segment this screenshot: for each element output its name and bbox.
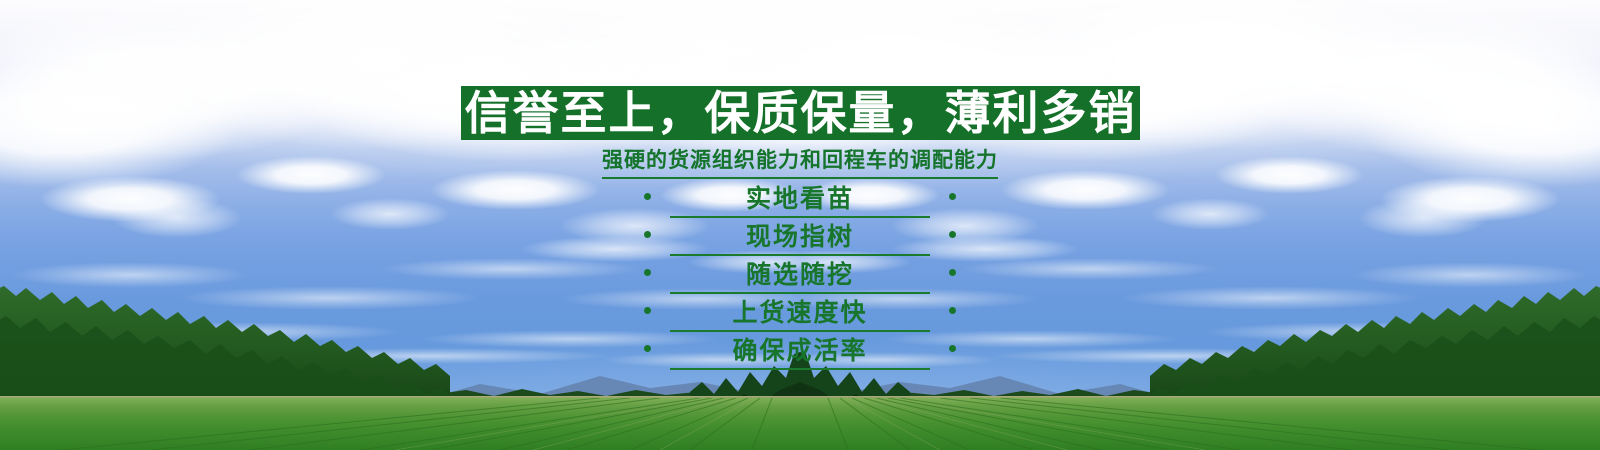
bullet-dot-icon bbox=[949, 345, 956, 352]
headline-bar: 信誉至上，保质保量，薄利多销 bbox=[461, 86, 1140, 140]
feature-label: 随选随挖 bbox=[746, 262, 854, 287]
feature-item: 上货速度快 bbox=[670, 294, 930, 332]
bullet-dot-icon bbox=[644, 193, 651, 200]
bullet-dot-icon bbox=[949, 307, 956, 314]
bullet-dot-icon bbox=[644, 231, 651, 238]
feature-item: 实地看苗 bbox=[670, 180, 930, 218]
feature-label: 实地看苗 bbox=[746, 186, 854, 211]
feature-item: 随选随挖 bbox=[670, 256, 930, 294]
feature-label: 确保成活率 bbox=[732, 338, 867, 363]
feature-list: 实地看苗 现场指树 随选随挖 上货速度快 确保成活率 bbox=[0, 180, 1600, 370]
bullet-dot-icon bbox=[949, 231, 956, 238]
feature-item: 现场指树 bbox=[670, 218, 930, 256]
bullet-dot-icon bbox=[644, 269, 651, 276]
promo-banner: 信誉至上，保质保量，薄利多销 强硬的货源组织能力和回程车的调配能力 实地看苗 现… bbox=[0, 0, 1600, 450]
bullet-dot-icon bbox=[949, 269, 956, 276]
feature-label: 上货速度快 bbox=[732, 300, 867, 325]
subtitle-wrap: 强硬的货源组织能力和回程车的调配能力 bbox=[0, 144, 1600, 179]
bullet-dot-icon bbox=[949, 193, 956, 200]
feature-item: 确保成活率 bbox=[670, 332, 930, 370]
banner-content: 信誉至上，保质保量，薄利多销 强硬的货源组织能力和回程车的调配能力 实地看苗 现… bbox=[0, 0, 1600, 450]
subtitle-text: 强硬的货源组织能力和回程车的调配能力 bbox=[602, 144, 998, 179]
bullet-dot-icon bbox=[644, 307, 651, 314]
feature-label: 现场指树 bbox=[746, 224, 854, 249]
bullet-dot-icon bbox=[644, 345, 651, 352]
headline-text: 信誉至上，保质保量，薄利多销 bbox=[465, 90, 1137, 136]
